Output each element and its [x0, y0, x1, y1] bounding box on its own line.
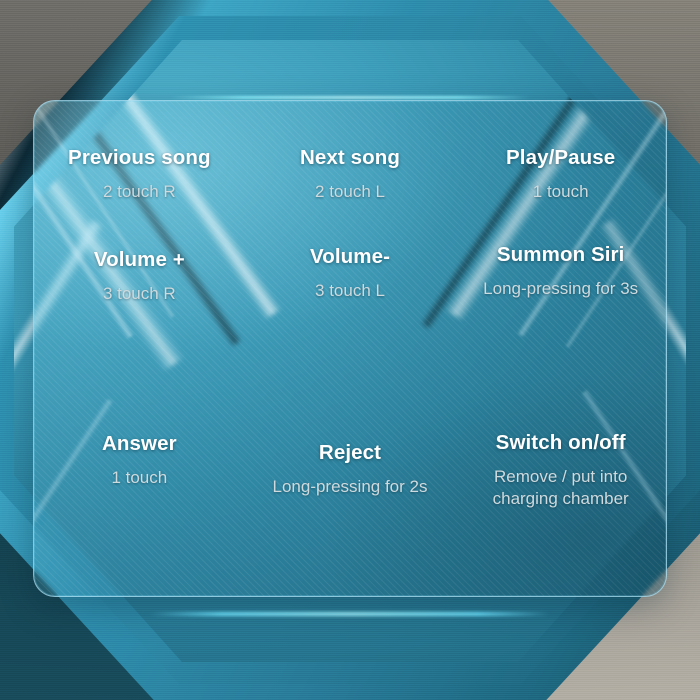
gesture-grid: Previous song 2 touch R Next song 2 touc… [34, 101, 666, 596]
gesture-subtitle: 1 touch [111, 467, 167, 489]
gesture-cell-switch-on-off: Switch on/off Remove / put into charging… [455, 383, 666, 535]
gesture-cell-volume-up: Volume + 3 touch R [34, 211, 245, 383]
gesture-subtitle: 2 touch L [315, 181, 385, 203]
gesture-subtitle: 3 touch R [103, 283, 176, 305]
gesture-title: Summon Siri [497, 244, 625, 267]
gesture-subtitle: Long-pressing for 3s [483, 278, 638, 300]
gesture-subtitle: 2 touch R [103, 181, 176, 203]
gesture-cell-volume-down: Volume- 3 touch L [245, 211, 456, 383]
gesture-title: Reject [319, 442, 381, 465]
gesture-title: Switch on/off [496, 432, 626, 455]
gesture-cell-play-pause: Play/Pause 1 touch [455, 131, 666, 211]
gesture-cell-summon-siri: Summon Siri Long-pressing for 3s [455, 211, 666, 383]
gesture-cell-next-song: Next song 2 touch L [245, 131, 456, 211]
gesture-cell-answer: Answer 1 touch [34, 383, 245, 535]
touch-control-panel: Previous song 2 touch R Next song 2 touc… [33, 100, 667, 597]
gesture-cell-reject: Reject Long-pressing for 2s [245, 383, 456, 535]
gesture-title: Previous song [68, 147, 211, 170]
gesture-subtitle: Long-pressing for 2s [273, 476, 428, 498]
product-feature-image: Previous song 2 touch R Next song 2 touc… [0, 0, 700, 700]
gesture-title: Answer [102, 433, 177, 456]
gesture-title: Next song [300, 147, 400, 170]
gesture-subtitle: 1 touch [533, 181, 589, 203]
gesture-title: Volume- [310, 246, 390, 269]
gesture-title: Volume + [94, 249, 185, 272]
gesture-cell-previous-song: Previous song 2 touch R [34, 131, 245, 211]
gesture-title: Play/Pause [506, 147, 615, 170]
gesture-subtitle: Remove / put into charging chamber [463, 466, 659, 510]
gesture-subtitle: 3 touch L [315, 280, 385, 302]
